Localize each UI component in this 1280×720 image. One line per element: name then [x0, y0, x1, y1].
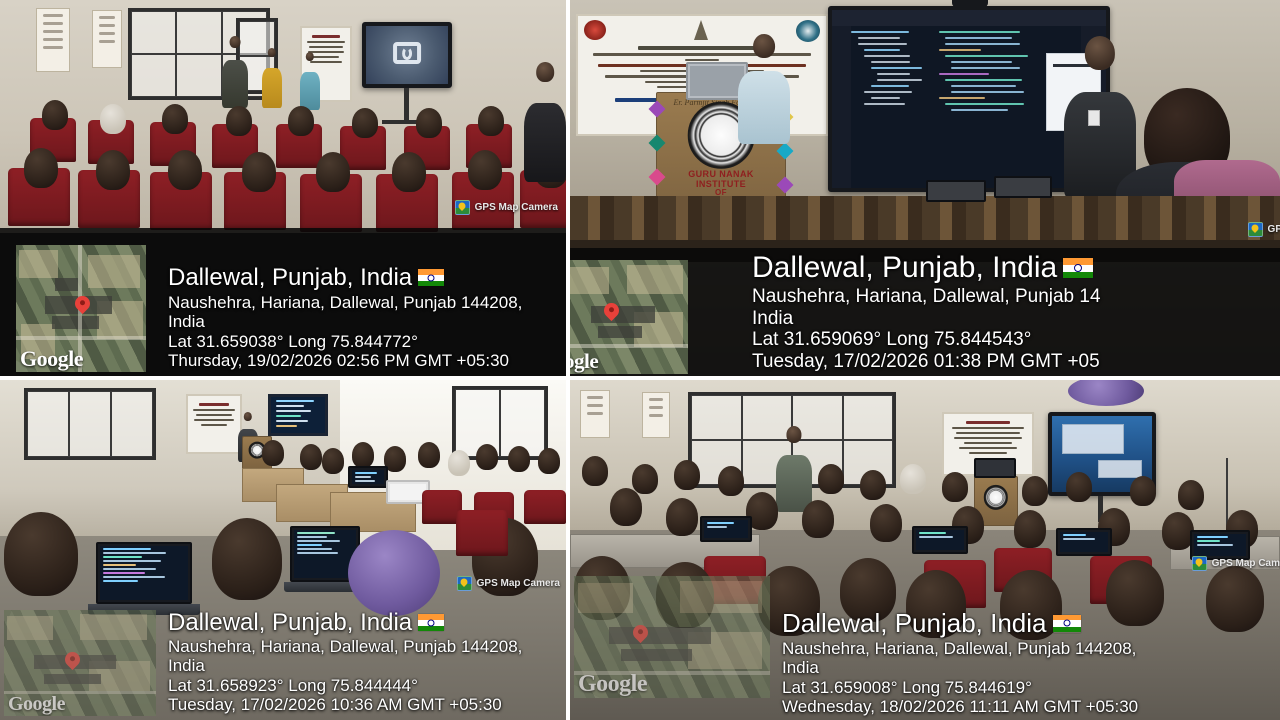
watermark-label: GPS Map Camera — [475, 202, 558, 213]
table-runner — [570, 196, 1280, 240]
laptop-screen — [352, 470, 384, 484]
laptop-lid — [348, 466, 388, 488]
banner-logo-left — [584, 20, 606, 40]
google-attribution: Google — [8, 693, 65, 716]
gps-map-camera-icon — [455, 200, 470, 215]
editor-code-area — [939, 31, 1043, 181]
laptop-screen — [916, 530, 964, 550]
gps-timestamp: Thursday, 19/02/2026 02:56 PM GMT +05:30 — [168, 351, 522, 370]
gps-address-line1: Naushehra, Hariana, Dallewal, Punjab 14 — [752, 286, 1101, 307]
gps-coordinates: Lat 31.659069° Long 75.844543° — [752, 329, 1101, 350]
laptop-screen — [704, 520, 748, 538]
standing-attendee-teal — [300, 52, 320, 110]
editor-project-tree — [851, 31, 933, 181]
watermark-label: GPS Map Cam — [1212, 558, 1280, 569]
gps-place: Dallewal, Punjab, India — [168, 264, 522, 291]
editor-toolbar — [832, 10, 1106, 26]
attendee-laptop — [926, 180, 986, 202]
gps-coordinates: Lat 31.659008° Long 75.844619° — [782, 678, 1138, 697]
wall-chart-1 — [36, 8, 70, 72]
gps-map-camera-icon — [457, 576, 472, 591]
laptop-screen — [1060, 532, 1108, 552]
glass-partition — [24, 388, 156, 460]
lab-chair — [456, 510, 508, 556]
event-banner — [186, 394, 242, 454]
gps-address-line2: India — [168, 656, 522, 675]
india-flag-icon — [418, 614, 444, 631]
gps-map-thumbnail: Google — [16, 245, 146, 372]
india-flag-icon — [1053, 615, 1081, 633]
wall-display — [362, 22, 452, 88]
presenter-body — [776, 455, 812, 512]
photo-bottom-right: GPS Map Cam Google Dallewal, Punjab, Ind… — [570, 380, 1280, 720]
student-laptop — [700, 516, 752, 542]
gps-map-thumbnail: Google — [574, 576, 770, 698]
speaker-head — [753, 34, 775, 58]
watermark-label: GP — [1268, 224, 1280, 235]
presenter — [222, 36, 248, 108]
gps-text-block: Dallewal, Punjab, India Naushehra, Haria… — [752, 251, 1101, 372]
gps-place: Dallewal, Punjab, India — [782, 609, 1138, 638]
google-attribution: Google — [578, 671, 647, 698]
gps-map-camera-icon — [1248, 222, 1263, 237]
gps-address-line1: Naushehra, Hariana, Dallewal, Punjab 144… — [782, 639, 1138, 658]
india-flag-icon — [418, 269, 444, 286]
trainer-lanyard-badge — [1088, 110, 1100, 126]
gps-map-camera-icon — [1192, 556, 1207, 571]
speaker-body — [738, 71, 790, 144]
gps-timestamp: Wednesday, 18/02/2026 11:11 AM GMT +05:3… — [782, 697, 1138, 716]
lab-chair — [524, 490, 566, 524]
presenter-head — [786, 426, 801, 443]
google-attribution: ogle — [570, 349, 598, 374]
display-window — [1098, 460, 1142, 478]
laptop-lid — [926, 180, 986, 202]
wall-chart-2 — [642, 392, 670, 438]
gps-address-line1: Naushehra, Hariana, Dallewal, Punjab 144… — [168, 293, 522, 312]
banner-line-3 — [685, 59, 720, 61]
monitor-icon — [393, 42, 421, 64]
presenter-body — [222, 60, 248, 108]
student-laptop — [912, 526, 968, 554]
laptop-lid — [974, 458, 1016, 478]
gps-text-block: Dallewal, Punjab, India Naushehra, Haria… — [782, 609, 1138, 716]
display-stand — [404, 88, 409, 122]
presenter-head — [244, 412, 252, 421]
attendee-laptop — [994, 176, 1052, 198]
attendee-body — [262, 68, 282, 108]
laptop-lid — [994, 176, 1052, 198]
gps-address-line1: Naushehra, Hariana, Dallewal, Punjab 144… — [168, 637, 522, 656]
presentation-display — [268, 394, 328, 436]
gps-map-camera-watermark: GPS Map Camera — [457, 576, 560, 591]
gps-map-camera-watermark: GPS Map Cam — [1192, 556, 1280, 571]
photo-top-left: GPS Map Camera Google Dallewal, Punjab, … — [0, 0, 566, 376]
google-attribution: Google — [20, 346, 83, 372]
watermark-label: GPS Map Camera — [477, 578, 560, 589]
side-attendee — [524, 62, 566, 182]
presenter-head — [230, 36, 241, 48]
gps-text-block: Dallewal, Punjab, India Naushehra, Haria… — [168, 264, 522, 370]
podium-laptop — [974, 458, 1016, 478]
photo-top-right: Er. Parmjit Singh Foundation GURU NANAK … — [570, 0, 1280, 376]
laptop-lid — [700, 516, 752, 542]
gps-map-thumbnail: ogle — [570, 260, 688, 374]
gps-address-line2: India — [752, 308, 1101, 329]
editor-activity-bar — [832, 26, 851, 188]
laptop-screen — [690, 66, 744, 96]
india-flag-icon — [1063, 258, 1093, 278]
gps-place: Dallewal, Punjab, India — [752, 251, 1101, 285]
photo-bottom-left: GPS Map Camera Google Dallewal, Punjab, … — [0, 380, 566, 720]
standing-attendee-yellow — [262, 48, 282, 108]
attendee-body — [300, 72, 320, 110]
gps-address-line2: India — [168, 312, 522, 331]
gps-coordinates: Lat 31.658923° Long 75.844444° — [168, 676, 522, 695]
speaker — [738, 34, 790, 144]
laptop-lid — [1056, 528, 1112, 556]
gps-coordinates: Lat 31.659038° Long 75.844772° — [168, 332, 522, 351]
institute-crest — [984, 485, 1008, 509]
laptop-lid — [912, 526, 968, 554]
camera-bar — [952, 0, 988, 7]
gps-timestamp: Tuesday, 17/02/2026 10:36 AM GMT +05:30 — [168, 695, 522, 714]
laptop-screen — [1194, 534, 1246, 556]
laptop-screen — [294, 530, 356, 578]
banner-logo-right — [796, 20, 820, 42]
attendee-head — [268, 48, 276, 57]
gps-map-camera-watermark: GPS Map Camera — [455, 200, 558, 215]
laptop-screen — [390, 484, 426, 500]
student-laptop — [348, 466, 388, 488]
window-right — [452, 386, 548, 460]
foreground-student-head — [4, 512, 78, 596]
gps-address-line2: India — [782, 658, 1138, 677]
wall-chart-1 — [580, 390, 610, 438]
presenter — [776, 426, 812, 512]
display-window — [1062, 424, 1124, 454]
attendee-head — [536, 62, 554, 82]
photo-collage: GPS Map Camera Google Dallewal, Punjab, … — [0, 0, 1280, 720]
gps-map-thumbnail: Google — [4, 610, 156, 716]
student-laptop — [1056, 528, 1112, 556]
banner-emblem — [694, 20, 708, 40]
gps-text-block: Dallewal, Punjab, India Naushehra, Haria… — [168, 609, 522, 714]
gps-place: Dallewal, Punjab, India — [168, 609, 522, 636]
trainer-head — [1085, 36, 1115, 70]
laptop-screen — [100, 546, 188, 600]
attendee-head — [306, 52, 314, 61]
foreground-student-head — [212, 518, 282, 600]
wall-chart-2 — [92, 10, 122, 68]
attendee-body — [524, 103, 566, 182]
gps-map-camera-watermark: GP — [1248, 222, 1280, 237]
gps-timestamp: Tuesday, 17/02/2026 01:38 PM GMT +05 — [752, 351, 1101, 372]
